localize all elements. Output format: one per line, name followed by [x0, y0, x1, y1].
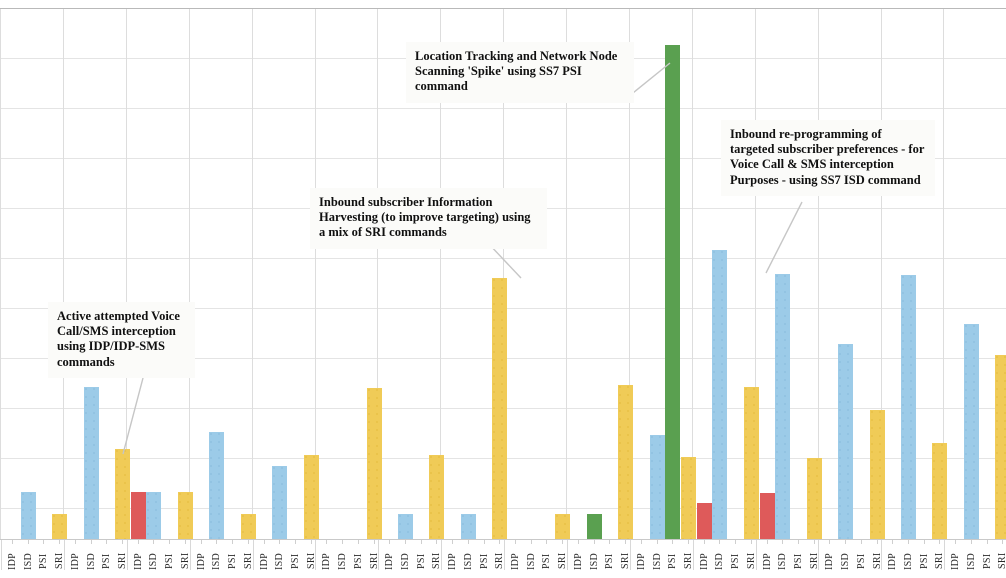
bar-isd-41[interactable]	[650, 435, 665, 540]
x-axis-label: IDP	[697, 545, 712, 577]
tick-mark	[814, 540, 815, 544]
tick-mark	[908, 540, 909, 544]
x-tick-50: PSI	[791, 540, 806, 578]
x-tick-31: SRI	[492, 540, 507, 578]
x-tick-22: PSI	[351, 540, 366, 578]
x-axis-label: ISD	[461, 545, 476, 577]
tick-mark	[28, 540, 29, 544]
x-axis-label: SRI	[807, 545, 822, 577]
tick-mark	[264, 540, 265, 544]
tick-mark	[531, 540, 532, 544]
tick-mark	[43, 540, 44, 544]
bar-sri-39[interactable]	[618, 385, 633, 540]
tick-mark	[342, 540, 343, 544]
x-tick-38: PSI	[602, 540, 617, 578]
x-axis-label: PSI	[665, 545, 680, 577]
x-tick-0: IDP	[5, 540, 20, 578]
tick-mark	[169, 540, 170, 544]
x-axis-label: ISD	[335, 545, 350, 577]
x-tick-23: SRI	[367, 540, 382, 578]
x-axis-label: IDP	[634, 545, 649, 577]
x-tick-14: PSI	[225, 540, 240, 578]
tick-mark	[939, 540, 940, 544]
x-tick-1: ISD	[21, 540, 36, 578]
bar-isd-57[interactable]	[901, 275, 916, 540]
x-tick-9: ISD	[146, 540, 161, 578]
x-axis-label: IDP	[760, 545, 775, 577]
x-axis-label: PSI	[288, 545, 303, 577]
x-axis-label: ISD	[901, 545, 916, 577]
x-axis-group-separator	[693, 540, 694, 570]
x-axis-label: PSI	[225, 545, 240, 577]
x-tick-53: ISD	[838, 540, 853, 578]
bar-idp-48[interactable]	[760, 493, 775, 540]
x-axis-label: ISD	[964, 545, 979, 577]
bar-sri-47[interactable]	[744, 387, 759, 540]
bar-sri-27[interactable]	[429, 455, 444, 540]
annotation-psi-text: Location Tracking and Network Node Scann…	[415, 49, 617, 93]
tick-mark	[295, 540, 296, 544]
x-tick-12: IDP	[194, 540, 209, 578]
x-axis-label: PSI	[980, 545, 995, 577]
x-axis-label: IDP	[822, 545, 837, 577]
x-axis-label: SRI	[932, 545, 947, 577]
x-axis-label: IDP	[948, 545, 963, 577]
x-tick-2: PSI	[36, 540, 51, 578]
x-axis-label: IDP	[508, 545, 523, 577]
x-tick-8: IDP	[131, 540, 146, 578]
x-axis-label: IDP	[194, 545, 209, 577]
x-axis-group-separator	[1, 540, 2, 570]
x-axis-group-separator	[253, 540, 254, 570]
x-tick-62: PSI	[980, 540, 995, 578]
tick-mark	[405, 540, 406, 544]
x-axis-label: PSI	[99, 545, 114, 577]
bar-sri-43[interactable]	[681, 457, 696, 540]
x-tick-19: SRI	[304, 540, 319, 578]
x-axis-label: SRI	[870, 545, 885, 577]
tick-mark	[955, 540, 956, 544]
tick-mark	[1002, 540, 1003, 544]
x-axis-label: PSI	[162, 545, 177, 577]
tick-mark	[688, 540, 689, 544]
x-axis-label: IDP	[68, 545, 83, 577]
tick-mark	[562, 540, 563, 544]
x-tick-32: IDP	[508, 540, 523, 578]
x-axis-label: SRI	[304, 545, 319, 577]
tick-mark	[216, 540, 217, 544]
x-axis-label: PSI	[351, 545, 366, 577]
tick-mark	[106, 540, 107, 544]
x-axis-label: IDP	[319, 545, 334, 577]
leader-line-isd	[764, 200, 804, 276]
x-tick-17: ISD	[272, 540, 287, 578]
bar-isd-53[interactable]	[838, 344, 853, 540]
x-tick-42: PSI	[665, 540, 680, 578]
tick-mark	[672, 540, 673, 544]
tick-mark	[75, 540, 76, 544]
x-tick-25: ISD	[398, 540, 413, 578]
tick-mark	[704, 540, 705, 544]
bar-sri-11[interactable]	[178, 492, 193, 540]
tick-mark	[389, 540, 390, 544]
tick-mark	[12, 540, 13, 544]
bar-sri-7[interactable]	[115, 449, 130, 540]
bar-sri-19[interactable]	[304, 455, 319, 540]
tick-mark	[421, 540, 422, 544]
x-tick-6: PSI	[99, 540, 114, 578]
tick-mark	[468, 540, 469, 544]
annotation-idp-text: Active attempted Voice Call/SMS intercep…	[57, 309, 180, 369]
x-axis-label: ISD	[838, 545, 853, 577]
x-tick-21: ISD	[335, 540, 350, 578]
x-tick-10: PSI	[162, 540, 177, 578]
x-tick-57: ISD	[901, 540, 916, 578]
x-tick-61: ISD	[964, 540, 979, 578]
x-axis-group-separator	[315, 540, 316, 570]
bar-sri-55[interactable]	[870, 410, 885, 540]
tick-mark	[232, 540, 233, 544]
bar-isd-61[interactable]	[964, 324, 979, 540]
x-tick-20: IDP	[319, 540, 334, 578]
tick-mark	[358, 540, 359, 544]
tick-mark	[829, 540, 830, 544]
x-axis-label: ISD	[775, 545, 790, 577]
leader-line-idp	[118, 378, 154, 460]
tick-mark	[122, 540, 123, 544]
annotation-psi: Location Tracking and Network Node Scann…	[406, 42, 634, 103]
x-tick-54: PSI	[854, 540, 869, 578]
leader-line-psi	[628, 60, 672, 100]
tick-mark	[452, 540, 453, 544]
x-axis-group-separator	[630, 540, 631, 570]
x-axis-label: ISD	[84, 545, 99, 577]
x-tick-37: ISD	[587, 540, 602, 578]
x-axis-label: ISD	[587, 545, 602, 577]
annotation-isd-text: Inbound re-programming of targeted subsc…	[730, 127, 924, 187]
bar-isd-9[interactable]	[146, 492, 161, 540]
x-tick-58: PSI	[917, 540, 932, 578]
x-tick-45: ISD	[712, 540, 727, 578]
x-tick-44: IDP	[697, 540, 712, 578]
tick-mark	[515, 540, 516, 544]
tick-mark	[609, 540, 610, 544]
tick-mark	[201, 540, 202, 544]
tick-mark	[877, 540, 878, 544]
x-tick-46: PSI	[728, 540, 743, 578]
x-axis-label: ISD	[650, 545, 665, 577]
tick-mark	[798, 540, 799, 544]
x-tick-29: ISD	[461, 540, 476, 578]
tick-mark	[499, 540, 500, 544]
x-axis-label: ISD	[712, 545, 727, 577]
x-tick-24: IDP	[382, 540, 397, 578]
x-tick-60: IDP	[948, 540, 963, 578]
bar-sri-35[interactable]	[555, 514, 570, 540]
x-axis-group-separator	[756, 540, 757, 570]
x-tick-36: IDP	[571, 540, 586, 578]
x-tick-16: IDP	[257, 540, 272, 578]
bar-sri-63[interactable]	[995, 355, 1006, 540]
bar-sri-59[interactable]	[932, 443, 947, 540]
x-axis-label: ISD	[146, 545, 161, 577]
x-tick-13: ISD	[209, 540, 224, 578]
x-axis-label: ISD	[398, 545, 413, 577]
x-axis-group-separator	[190, 540, 191, 570]
tick-mark	[326, 540, 327, 544]
x-axis-group-separator	[441, 540, 442, 570]
bar-isd-1[interactable]	[21, 492, 36, 540]
tick-mark	[311, 540, 312, 544]
x-axis-label: IDP	[257, 545, 272, 577]
x-axis: IDPISDPSISRIIDPISDPSISRIIDPISDPSISRIIDPI…	[0, 540, 1006, 578]
x-tick-5: ISD	[84, 540, 99, 578]
x-axis-label: PSI	[791, 545, 806, 577]
tick-mark	[861, 540, 862, 544]
tick-mark	[641, 540, 642, 544]
x-axis-label: PSI	[36, 545, 51, 577]
tick-mark	[594, 540, 595, 544]
tick-mark	[845, 540, 846, 544]
tick-mark	[279, 540, 280, 544]
x-axis-label: IDP	[382, 545, 397, 577]
tick-mark	[924, 540, 925, 544]
bar-sri-31[interactable]	[492, 278, 507, 540]
x-axis-label: IDP	[445, 545, 460, 577]
x-axis-label: ISD	[21, 545, 36, 577]
x-tick-59: SRI	[932, 540, 947, 578]
x-tick-26: PSI	[414, 540, 429, 578]
x-tick-56: IDP	[885, 540, 900, 578]
tick-mark	[138, 540, 139, 544]
bar-isd-5[interactable]	[84, 387, 99, 540]
x-axis-group-separator	[881, 540, 882, 570]
x-tick-34: PSI	[539, 540, 554, 578]
x-axis-group-separator	[944, 540, 945, 570]
annotation-idp: Active attempted Voice Call/SMS intercep…	[48, 302, 195, 378]
x-axis-label: PSI	[602, 545, 617, 577]
x-axis-label: ISD	[209, 545, 224, 577]
bar-isd-17[interactable]	[272, 466, 287, 540]
tick-mark	[484, 540, 485, 544]
tick-mark	[91, 540, 92, 544]
x-axis-label: PSI	[477, 545, 492, 577]
tick-mark	[578, 540, 579, 544]
tick-mark	[153, 540, 154, 544]
x-axis-group-separator	[567, 540, 568, 570]
x-tick-48: IDP	[760, 540, 775, 578]
tick-mark	[782, 540, 783, 544]
x-tick-55: SRI	[870, 540, 885, 578]
x-axis-label: SRI	[492, 545, 507, 577]
x-tick-49: ISD	[775, 540, 790, 578]
x-tick-40: IDP	[634, 540, 649, 578]
tick-mark	[767, 540, 768, 544]
bar-psi-42[interactable]	[665, 45, 680, 540]
tick-mark	[374, 540, 375, 544]
annotation-sri: Inbound subscriber Information Harvestin…	[310, 188, 547, 249]
tick-mark	[751, 540, 752, 544]
x-axis-group-separator	[127, 540, 128, 570]
x-tick-27: SRI	[429, 540, 444, 578]
bar-sri-51[interactable]	[807, 458, 822, 540]
x-tick-33: ISD	[524, 540, 539, 578]
bar-isd-45[interactable]	[712, 250, 727, 540]
x-axis-label: PSI	[854, 545, 869, 577]
bar-isd-37[interactable]	[587, 514, 602, 540]
tick-mark	[59, 540, 60, 544]
x-axis-label: IDP	[571, 545, 586, 577]
bar-isd-13[interactable]	[209, 432, 224, 540]
bar-idp-8[interactable]	[131, 492, 146, 540]
x-axis-label: SRI	[429, 545, 444, 577]
annotation-isd: Inbound re-programming of targeted subsc…	[721, 120, 935, 196]
x-axis-label: IDP	[5, 545, 20, 577]
x-axis-label: IDP	[885, 545, 900, 577]
bar-isd-25[interactable]	[398, 514, 413, 540]
bar-idp-44[interactable]	[697, 503, 712, 540]
x-axis-label: SRI	[367, 545, 382, 577]
tick-mark	[248, 540, 249, 544]
bar-sri-15[interactable]	[241, 514, 256, 540]
x-axis-group-separator	[504, 540, 505, 570]
x-axis-label: ISD	[524, 545, 539, 577]
x-axis-label: ISD	[272, 545, 287, 577]
x-axis-group-separator	[378, 540, 379, 570]
tick-mark	[987, 540, 988, 544]
bar-sri-23[interactable]	[367, 388, 382, 540]
bar-isd-49[interactable]	[775, 274, 790, 540]
bar-isd-29[interactable]	[461, 514, 476, 540]
x-tick-51: SRI	[807, 540, 822, 578]
tick-mark	[185, 540, 186, 544]
bar-sri-3[interactable]	[52, 514, 67, 540]
x-tick-18: PSI	[288, 540, 303, 578]
tick-mark	[971, 540, 972, 544]
x-axis-label: SRI	[995, 545, 1006, 577]
x-axis-group-separator	[64, 540, 65, 570]
x-tick-41: ISD	[650, 540, 665, 578]
tick-mark	[892, 540, 893, 544]
x-axis-group-separator	[818, 540, 819, 570]
tick-mark	[436, 540, 437, 544]
ss7-signalling-bar-chart: Active attempted Voice Call/SMS intercep…	[0, 0, 1006, 578]
tick-mark	[625, 540, 626, 544]
x-tick-4: IDP	[68, 540, 83, 578]
x-axis-label: PSI	[917, 545, 932, 577]
annotation-sri-text: Inbound subscriber Information Harvestin…	[319, 195, 531, 239]
x-axis-label: IDP	[131, 545, 146, 577]
x-tick-63: SRI	[995, 540, 1006, 578]
tick-mark	[546, 540, 547, 544]
x-axis-label: PSI	[414, 545, 429, 577]
x-axis-label: PSI	[728, 545, 743, 577]
tick-mark	[719, 540, 720, 544]
x-axis-label: PSI	[539, 545, 554, 577]
x-tick-52: IDP	[822, 540, 837, 578]
x-tick-28: IDP	[445, 540, 460, 578]
tick-mark	[657, 540, 658, 544]
x-tick-30: PSI	[477, 540, 492, 578]
tick-mark	[735, 540, 736, 544]
